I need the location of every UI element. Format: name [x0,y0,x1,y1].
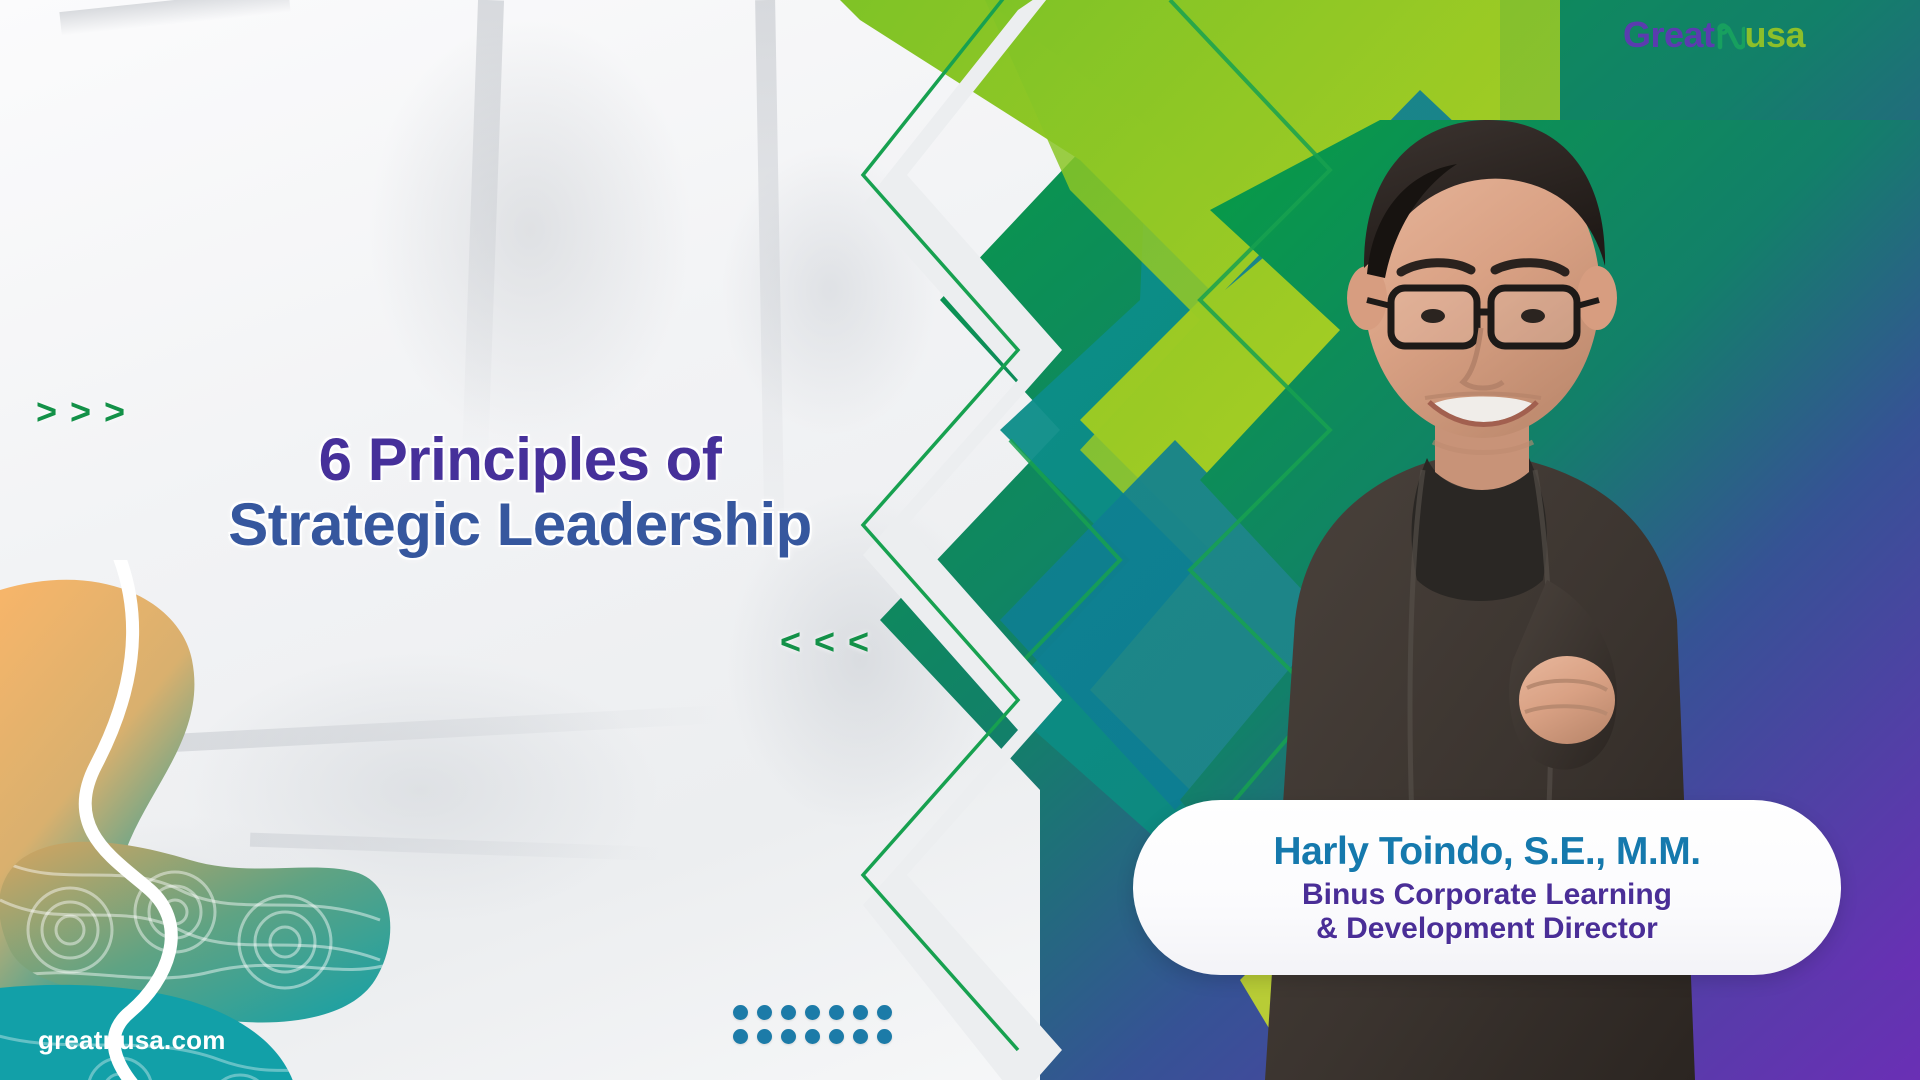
dot [829,1029,844,1044]
speaker-role-line-1: Binus Corporate Learning [1302,878,1672,912]
dot [805,1005,820,1020]
slide-canvas: greatnusa.com > > > < < < 6 Principles o… [0,0,1920,1080]
logo-text-great: Great [1623,14,1715,55]
footer-website-url[interactable]: greatnusa.com [38,1025,226,1056]
page-title: 6 Principles of Strategic Leadership [150,428,890,558]
dot [757,1005,772,1020]
greatnusa-logo[interactable]: Great usa [1623,14,1805,58]
organic-blob-decoration [0,560,420,1080]
title-line-2: Strategic Leadership [150,493,890,558]
speaker-role-line-2: & Development Director [1302,912,1672,946]
chevron-left-icon: < [814,626,836,660]
n-monogram-icon [1715,16,1745,58]
dot [733,1005,748,1020]
chevron-right-icon: > [104,396,126,430]
logo-text-usa: usa [1745,14,1806,55]
dot [757,1029,772,1044]
dot-grid-decoration [733,1005,901,1053]
chevron-left-icon: < [780,626,802,660]
speaker-role: Binus Corporate Learning & Development D… [1302,878,1672,946]
chevron-left-decoration: < < < [780,626,870,660]
chevron-right-icon: > [70,396,92,430]
chevron-right-icon: > [36,396,58,430]
speaker-name: Harly Toindo, S.E., M.M. [1273,830,1700,874]
chevron-right-decoration: > > > [36,396,126,430]
dot [781,1029,796,1044]
dot [877,1029,892,1044]
title-line-1: 6 Principles of [150,428,890,493]
dot [805,1029,820,1044]
dot [781,1005,796,1020]
chevron-left-icon: < [848,626,870,660]
dot [733,1029,748,1044]
dot [877,1005,892,1020]
dot [829,1005,844,1020]
dot [853,1005,868,1020]
speaker-name-card: Harly Toindo, S.E., M.M. Binus Corporate… [1133,800,1841,975]
dot [853,1029,868,1044]
